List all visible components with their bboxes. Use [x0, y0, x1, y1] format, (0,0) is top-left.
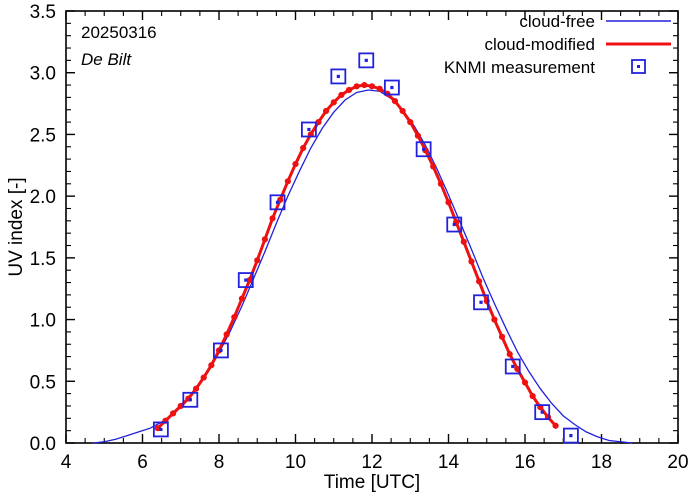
cloud-modified-dot: [323, 108, 329, 114]
uv-index-chart-figure: 468101214161820 0.00.51.01.52.02.53.03.5…: [0, 0, 694, 501]
measurement-center-dot: [453, 223, 456, 226]
cloud-modified-dot: [231, 314, 237, 320]
x-tick-label: 8: [214, 452, 225, 473]
cloud-modified-dot: [224, 331, 230, 337]
measurement-center-dot: [541, 411, 544, 414]
cloud-modified-dot: [407, 119, 413, 125]
cloud-modified-dot: [354, 83, 360, 89]
cloud-modified-dot: [530, 393, 536, 399]
cloud-modified-dot: [476, 278, 482, 284]
annotation-station: De Bilt: [81, 50, 132, 69]
y-tick-label: 0.0: [30, 434, 56, 455]
y-tick-label: 2.5: [30, 125, 56, 146]
measurement-center-dot: [390, 86, 393, 89]
legend-label-cloud-free: cloud-free: [519, 12, 595, 31]
x-tick-label: 10: [285, 452, 306, 473]
measurement-center-dot: [479, 301, 482, 304]
cloud-modified-line: [158, 85, 556, 428]
cloud-modified-dot: [484, 298, 490, 304]
cloud-modified-dot: [461, 239, 467, 245]
cloud-modified-dot: [392, 98, 398, 104]
x-axis-tick-labels: 468101214161820: [61, 452, 689, 473]
cloud-modified-dot: [553, 423, 559, 429]
measurement-marker: [359, 53, 373, 67]
measurement-center-dot: [422, 148, 425, 151]
cloud-modified-dot: [438, 181, 444, 187]
cloud-modified-dot: [499, 334, 505, 340]
measurement-center-dot: [511, 365, 514, 368]
cloud-modified-dot: [262, 236, 268, 242]
cloud-modified-dot: [170, 410, 176, 416]
cloud-modified-dot: [269, 215, 275, 221]
chart-legend: cloud-free cloud-modified KNMI measureme…: [444, 12, 671, 77]
y-tick-label: 2.0: [30, 187, 56, 208]
cloud-modified-dot: [415, 133, 421, 139]
cloud-modified-dot: [369, 83, 375, 89]
x-tick-label: 18: [591, 452, 612, 473]
cloud-modified-dot: [300, 145, 306, 151]
x-tick-label: 16: [514, 452, 535, 473]
knmi-measurement-markers: [154, 53, 578, 442]
y-tick-label: 3.5: [30, 2, 56, 23]
legend-key-knmi-measurement: [632, 60, 645, 73]
measurement-center-dot: [159, 428, 162, 431]
cloud-modified-dot: [208, 362, 214, 368]
y-tick-label: 0.5: [30, 372, 56, 393]
measurement-center-dot: [276, 201, 279, 204]
cloud-modified-dot: [201, 374, 207, 380]
cloud-modified-dot: [193, 386, 199, 392]
cloud-modified-dot: [445, 199, 451, 205]
measurement-marker: [331, 69, 345, 83]
series-cloud-modified: [155, 82, 559, 431]
measurement-center-dot: [569, 434, 572, 437]
measurement-center-dot: [307, 128, 310, 131]
x-tick-label: 14: [438, 452, 460, 473]
measurement-center-dot: [219, 349, 222, 352]
measurement-center-dot: [365, 59, 368, 62]
y-tick-label: 1.0: [30, 311, 56, 332]
y-tick-label: 1.5: [30, 249, 56, 270]
cloud-modified-dot: [285, 178, 291, 184]
cloud-modified-dot: [247, 277, 253, 283]
y-axis-label: UV index [-]: [6, 177, 27, 276]
cloud-modified-dot: [400, 108, 406, 114]
cloud-modified-dot: [522, 379, 528, 385]
cloud-modified-markers: [155, 82, 559, 431]
measurement-marker: [564, 429, 578, 443]
chart-canvas: 468101214161820 0.00.51.01.52.02.53.03.5…: [0, 0, 694, 501]
y-axis-tick-labels: 0.00.51.01.52.02.53.03.5: [30, 2, 56, 455]
cloud-modified-dot: [239, 295, 245, 301]
x-tick-label: 6: [137, 452, 148, 473]
legend-label-knmi-measurement: KNMI measurement: [444, 58, 595, 77]
cloud-modified-dot: [491, 316, 497, 322]
x-axis-label: Time [UTC]: [324, 472, 420, 493]
cloud-modified-dot: [331, 99, 337, 105]
cloud-modified-dot: [254, 257, 260, 263]
y-tick-label: 3.0: [30, 64, 56, 85]
cloud-free-line: [93, 90, 632, 443]
cloud-modified-dot: [292, 161, 298, 167]
cloud-modified-dot: [468, 258, 474, 264]
measurement-center-dot: [244, 278, 247, 281]
x-tick-label: 4: [61, 452, 72, 473]
cloud-modified-dot: [338, 92, 344, 98]
measurement-center-dot: [337, 75, 340, 78]
annotation-date: 20250316: [81, 23, 157, 42]
cloud-modified-dot: [430, 163, 436, 169]
cloud-modified-dot: [377, 86, 383, 92]
series-cloud-free: [93, 90, 632, 443]
legend-label-cloud-modified: cloud-modified: [484, 35, 595, 54]
x-tick-label: 20: [667, 452, 688, 473]
cloud-modified-dot: [361, 82, 367, 88]
cloud-modified-dot: [507, 351, 513, 357]
measurement-center-dot: [189, 398, 192, 401]
cloud-modified-dot: [346, 87, 352, 93]
x-tick-label: 12: [361, 452, 382, 473]
